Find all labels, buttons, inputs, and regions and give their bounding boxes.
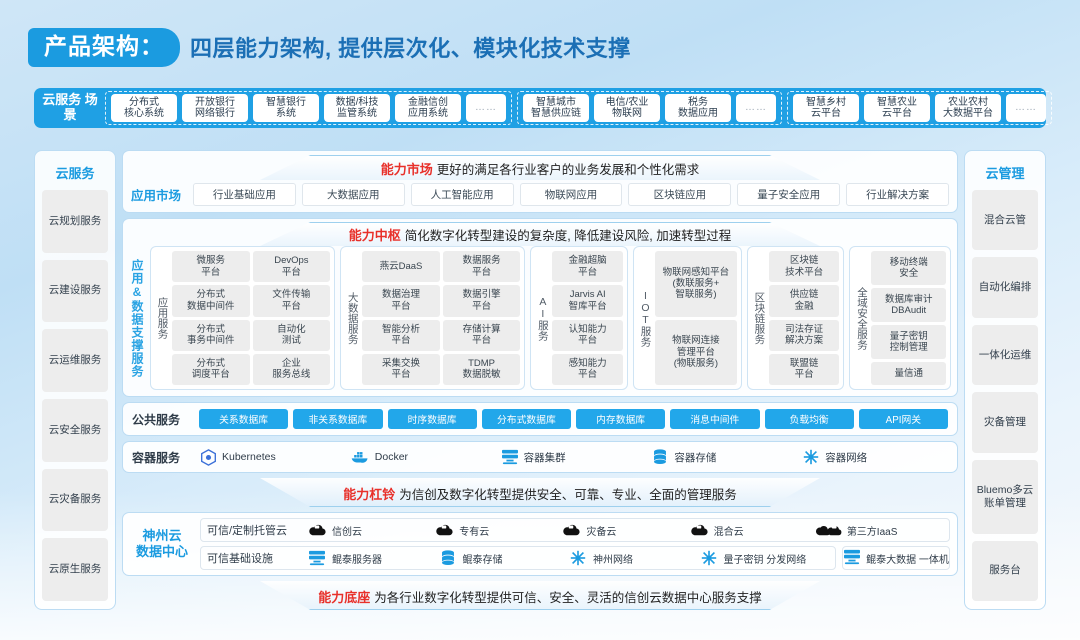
scenario-chip[interactable]: …… [466, 94, 506, 122]
public-service-chip[interactable]: 关系数据库 [199, 409, 288, 429]
capability-cell[interactable]: 微服务 平台 [172, 251, 250, 282]
item-label: 鲲泰大数据 一体机 [866, 551, 949, 566]
item-label: 神州网络 [593, 551, 633, 566]
server-icon [501, 448, 519, 466]
item-label: 容器存储 [674, 450, 716, 465]
app-market-chip[interactable]: 行业基础应用 [193, 183, 296, 206]
capability-cell[interactable]: 自动化 测试 [253, 320, 331, 351]
item-label: Kubernetes [222, 451, 276, 463]
banner-desc: 为各行业数字化转型提供可信、安全、灵活的信创云数据中心服务支撑 [374, 591, 762, 605]
datacenter-item[interactable]: 神州网络 [568, 550, 699, 566]
public-service-chip[interactable]: 分布式数据库 [482, 409, 571, 429]
left-sidebar-cloud-service: 云服务 云规划服务云建设服务云运维服务云安全服务云灾备服务云原生服务 [34, 150, 116, 610]
scenario-chip[interactable]: 金融信创 应用系统 [395, 94, 461, 122]
banner-title: 能力杠铃 [343, 487, 395, 502]
banner-text: 能力市场更好的满足各行业客户的业务发展和个性化需求 [131, 159, 949, 178]
scenario-chip[interactable]: …… [736, 94, 776, 122]
network-icon [802, 448, 820, 466]
container-service-item[interactable]: Kubernetes [199, 448, 345, 466]
datacenter-card: 神州云 数据中心 可信/定制托管云 信创云专有云灾备云混合云第三方IaaS 可信… [122, 512, 958, 576]
datacenter-item[interactable]: 灾备云 [561, 522, 688, 538]
scenario-chip[interactable]: 智慧农业 云平台 [864, 94, 930, 122]
sidebar-item[interactable]: 灾备管理 [972, 392, 1038, 452]
sidebar-item[interactable]: 云灾备服务 [42, 469, 108, 532]
capability-cell[interactable]: Jarvis AI 智库平台 [552, 285, 623, 316]
capability-cell[interactable]: 数据治理 平台 [362, 285, 440, 316]
item-label: 灾备云 [586, 523, 616, 538]
domain-label: 区块链服务 [752, 251, 766, 385]
sidebar-item[interactable]: 云规划服务 [42, 190, 108, 253]
cloud-icon [434, 522, 454, 538]
datacenter-item[interactable]: 鲲泰存储 [438, 550, 569, 566]
cloud-icon [561, 522, 581, 538]
server-icon [843, 549, 861, 568]
datacenter-item[interactable]: 第三方IaaS [816, 522, 943, 538]
banner-text: 能力杠铃为信创及数字化转型提供安全、可靠、专业、全面的管理服务 [122, 484, 958, 503]
datacenter-item[interactable]: 量子密钥 分发网络 [699, 550, 830, 566]
domain-label: AI服务 [535, 251, 549, 385]
banner-text: 能力中枢简化数字化转型建设的复杂度, 降低建设风险, 加速转型过程 [129, 225, 951, 244]
page-subtitle: 四层能力架构, 提供层次化、模块化技术支撑 [190, 31, 631, 63]
sidebar-item[interactable]: Bluemo多云 账单管理 [972, 460, 1038, 534]
multi-cloud-icon [816, 522, 842, 538]
scenario-group-finance: 分布式 核心系统开放银行 网络银行智慧银行 系统数据/科技 监管系统金融信创 应… [105, 91, 512, 125]
capability-cell[interactable]: 联盟链 平台 [769, 354, 840, 385]
right-sidebar-cloud-management: 云管理 混合云管自动化编排一体化运维灾备管理Bluemo多云 账单管理服务台 [964, 150, 1046, 610]
capability-domain: 区块链服务区块链 技术平台供应链 金融司法存证 解决方案联盟链 平台 [747, 246, 845, 390]
item-label: 信创云 [332, 523, 362, 538]
capability-cell[interactable]: 司法存证 解决方案 [769, 320, 840, 351]
public-services-label: 公共服务 [132, 411, 194, 428]
capability-cell[interactable]: 量子密钥 控制管理 [871, 325, 946, 359]
public-service-chip[interactable]: 时序数据库 [388, 409, 477, 429]
capability-cell[interactable]: 文件传输 平台 [253, 285, 331, 316]
banner-desc: 简化数字化转型建设的复杂度, 降低建设风险, 加速转型过程 [405, 229, 731, 243]
container-services-row: 容器服务 KubernetesDocker容器集群容器存储容器网络 [131, 445, 949, 469]
capability-market-banner: 能力市场更好的满足各行业客户的业务发展和个性化需求 [131, 155, 949, 180]
public-service-chip[interactable]: 消息中间件 [670, 409, 759, 429]
scenario-group-city: 智慧城市 智慧供应链电信/农业 物联网税务 数据应用…… [517, 91, 782, 125]
app-market-chip[interactable]: 行业解决方案 [846, 183, 949, 206]
banner-desc: 为信创及数字化转型提供安全、可靠、专业、全面的管理服务 [399, 488, 737, 502]
datacenter-item[interactable]: 信创云 [307, 522, 434, 538]
network-icon [568, 550, 588, 566]
app-market-row: 应用市场 行业基础应用大数据应用人工智能应用物联网应用区块链应用量子安全应用行业… [131, 180, 949, 208]
scenario-chip[interactable]: 开放银行 网络银行 [182, 94, 248, 122]
capability-cell[interactable]: 分布式 调度平台 [172, 354, 250, 385]
banner-title: 能力底座 [318, 590, 370, 605]
capability-base-banner: 能力底座为各行业数字化转型提供可信、安全、灵活的信创云数据中心服务支撑 [122, 581, 958, 610]
capability-market-card: 能力市场更好的满足各行业客户的业务发展和个性化需求 应用市场 行业基础应用大数据… [122, 150, 958, 213]
app-market-chip[interactable]: 大数据应用 [302, 183, 405, 206]
sidebar-item[interactable]: 云运维服务 [42, 329, 108, 392]
sidebar-item[interactable]: 云建设服务 [42, 260, 108, 323]
capability-cell[interactable]: 量信通 [871, 362, 946, 385]
capability-cell[interactable]: 数据服务 平台 [443, 251, 521, 282]
item-label: 鲲泰服务器 [332, 551, 382, 566]
right-sidebar-title: 云管理 [985, 163, 1024, 182]
capability-domain: 大数据服务燕云DaaS数据服务 平台数据治理 平台数据引擎 平台智能分析 平台存… [340, 246, 525, 390]
docker-icon [350, 448, 370, 466]
cloud-scenario-band: 云服务 场景 分布式 核心系统开放银行 网络银行智慧银行 系统数据/科技 监管系… [34, 88, 1046, 128]
scenario-group-agri: 智慧乡村 云平台智慧农业 云平台农业农村 大数据平台…… [787, 91, 1052, 125]
app-market-chip[interactable]: 人工智能应用 [411, 183, 514, 206]
scenario-chip[interactable]: 智慧乡村 云平台 [793, 94, 859, 122]
left-sidebar-title: 云服务 [55, 163, 94, 182]
capability-cell[interactable]: DevOps 平台 [253, 251, 331, 282]
app-market-chip[interactable]: 区块链应用 [628, 183, 731, 206]
container-services-label: 容器服务 [132, 449, 194, 466]
cloud-scenario-label: 云服务 场景 [40, 93, 100, 123]
center-column: 能力市场更好的满足各行业客户的业务发展和个性化需求 应用市场 行业基础应用大数据… [122, 150, 958, 610]
page-header: 产品架构： 四层能力架构, 提供层次化、模块化技术支撑 [28, 28, 631, 67]
container-services-card: 容器服务 KubernetesDocker容器集群容器存储容器网络 [122, 441, 958, 473]
sidebar-item[interactable]: 混合云管 [972, 190, 1038, 250]
capability-cell[interactable]: 数据引擎 平台 [443, 285, 521, 316]
row-label: 可信基础设施 [207, 550, 303, 566]
platform-services-card: 公共服务 关系数据库非关系数据库时序数据库分布式数据库内存数据库消息中间件负载均… [122, 402, 958, 436]
page-title-pill: 产品架构： [28, 28, 180, 67]
domain-label: 大数据服务 [345, 251, 359, 385]
capability-barbell-banner: 能力杠铃为信创及数字化转型提供安全、可靠、专业、全面的管理服务 [122, 478, 958, 507]
sidebar-item[interactable]: 云安全服务 [42, 399, 108, 462]
public-service-chip[interactable]: 内存数据库 [576, 409, 665, 429]
container-service-item[interactable]: 容器存储 [651, 448, 797, 466]
datacenter-row-hosted-cloud: 可信/定制托管云 信创云专有云灾备云混合云第三方IaaS [200, 518, 950, 542]
capability-cell[interactable]: 智能分析 平台 [362, 320, 440, 351]
capability-cell[interactable]: 感知能力 平台 [552, 354, 623, 385]
datacenter-title: 神州云 数据中心 [130, 518, 194, 570]
sidebar-item[interactable]: 一体化运维 [972, 325, 1038, 385]
capability-cell[interactable]: TDMP 数据脱敏 [443, 354, 521, 385]
item-label: Docker [375, 451, 408, 463]
banner-text: 能力底座为各行业数字化转型提供可信、安全、灵活的信创云数据中心服务支撑 [122, 587, 958, 606]
item-label: 容器网络 [825, 450, 867, 465]
capability-cell[interactable]: 数据库审计 DBAudit [871, 288, 946, 322]
sidebar-item[interactable]: 服务台 [972, 541, 1038, 601]
capability-cell[interactable]: 金融超脑 平台 [552, 251, 623, 282]
datacenter-row-infrastructure: 可信基础设施 鲲泰服务器鲲泰存储神州网络量子密钥 分发网络 [200, 546, 836, 570]
banner-desc: 更好的满足各行业客户的业务发展和个性化需求 [437, 163, 700, 177]
capability-cell[interactable]: 分布式 事务中间件 [172, 320, 250, 351]
datacenter-item[interactable]: 鲲泰服务器 [307, 550, 438, 566]
scenario-chip[interactable]: 电信/农业 物联网 [594, 94, 660, 122]
scenario-chip[interactable]: 数据/科技 监管系统 [324, 94, 390, 122]
datacenter-appliance-box: 鲲泰大数据 一体机 [842, 546, 950, 570]
capability-hub-banner: 能力中枢简化数字化转型建设的复杂度, 降低建设风险, 加速转型过程 [129, 222, 951, 246]
cloud-icon [307, 522, 327, 538]
capability-cell[interactable]: 移动终端 安全 [871, 251, 946, 285]
container-service-item[interactable]: 容器集群 [501, 448, 647, 466]
database-icon [651, 448, 669, 466]
database-icon [438, 550, 458, 566]
item-label: 鲲泰存储 [463, 551, 503, 566]
public-service-chip[interactable]: 负载均衡 [765, 409, 854, 429]
item-label: 混合云 [714, 523, 744, 538]
item-label: 第三方IaaS [847, 523, 898, 538]
datacenter-rows: 可信/定制托管云 信创云专有云灾备云混合云第三方IaaS 可信基础设施 鲲泰服务… [200, 518, 950, 570]
server-icon [307, 550, 327, 566]
capability-cell[interactable]: 采集交换 平台 [362, 354, 440, 385]
app-market-label: 应用市场 [131, 185, 187, 204]
cloud-icon [689, 522, 709, 538]
public-service-chip[interactable]: API网关 [859, 409, 948, 429]
capability-cell[interactable]: 认知能力 平台 [552, 320, 623, 351]
capability-domain: IOT服务物联网感知平台 (数联服务+ 智联服务)物联网连接 管理平台 (物联服… [633, 246, 742, 390]
architecture-frame: 云服务 云规划服务云建设服务云运维服务云安全服务云灾备服务云原生服务 能力市场更… [34, 150, 1046, 610]
kubernetes-icon [199, 448, 217, 466]
container-service-item[interactable]: Docker [350, 448, 496, 466]
scenario-chip[interactable]: 分布式 核心系统 [111, 94, 177, 122]
scenario-chip[interactable]: 智慧银行 系统 [253, 94, 319, 122]
scenario-chip[interactable]: 税务 数据应用 [665, 94, 731, 122]
app-market-chip[interactable]: 量子安全应用 [737, 183, 840, 206]
capability-cell[interactable]: 物联网感知平台 (数联服务+ 智联服务) [655, 251, 737, 317]
capability-cell[interactable]: 分布式 数据中间件 [172, 285, 250, 316]
container-service-item[interactable]: 容器网络 [802, 448, 948, 466]
domain-label: IOT服务 [638, 251, 652, 385]
capability-cell[interactable]: 企业 服务总线 [253, 354, 331, 385]
capability-cell[interactable]: 存储计算 平台 [443, 320, 521, 351]
domain-label: 全域安全服务 [854, 251, 868, 385]
capability-cell[interactable]: 物联网连接 管理平台 (物联服务) [655, 320, 737, 386]
banner-title: 能力中枢 [349, 228, 401, 243]
capability-hub-card: 能力中枢简化数字化转型建设的复杂度, 降低建设风险, 加速转型过程 应用&数据支… [122, 218, 958, 397]
public-service-chip[interactable]: 非关系数据库 [293, 409, 382, 429]
scenario-chip[interactable]: 智慧城市 智慧供应链 [523, 94, 589, 122]
app-market-chip[interactable]: 物联网应用 [520, 183, 623, 206]
network-icon [699, 550, 719, 566]
item-label: 专有云 [459, 523, 489, 538]
capability-cell[interactable]: 区块链 技术平台 [769, 251, 840, 282]
item-label: 容器集群 [524, 450, 566, 465]
capability-domain: 全域安全服务移动终端 安全数据库审计 DBAudit量子密钥 控制管理量信通 [849, 246, 951, 390]
capability-cell[interactable]: 供应链 金融 [769, 285, 840, 316]
sidebar-item[interactable]: 自动化编排 [972, 257, 1038, 317]
datacenter-item[interactable]: 混合云 [689, 522, 816, 538]
datacenter-item[interactable]: 专有云 [434, 522, 561, 538]
hub-vertical-label: 应用&数据支撑服务 [129, 246, 145, 390]
sidebar-item[interactable]: 云原生服务 [42, 538, 108, 601]
capability-cell[interactable]: 燕云DaaS [362, 251, 440, 282]
row-label: 可信/定制托管云 [207, 522, 303, 538]
domain-label: 应用服务 [155, 251, 169, 385]
scenario-chip[interactable]: …… [1006, 94, 1046, 122]
capability-hub-body: 应用&数据支撑服务 应用服务微服务 平台DevOps 平台分布式 数据中间件文件… [129, 246, 951, 390]
public-services-row: 公共服务 关系数据库非关系数据库时序数据库分布式数据库内存数据库消息中间件负载均… [131, 406, 949, 432]
item-label: 量子密钥 分发网络 [724, 551, 807, 566]
scenario-chip[interactable]: 农业农村 大数据平台 [935, 94, 1001, 122]
banner-title: 能力市场 [381, 162, 433, 177]
capability-domain: AI服务金融超脑 平台Jarvis AI 智库平台认知能力 平台感知能力 平台 [530, 246, 628, 390]
capability-domain: 应用服务微服务 平台DevOps 平台分布式 数据中间件文件传输 平台分布式 事… [150, 246, 335, 390]
